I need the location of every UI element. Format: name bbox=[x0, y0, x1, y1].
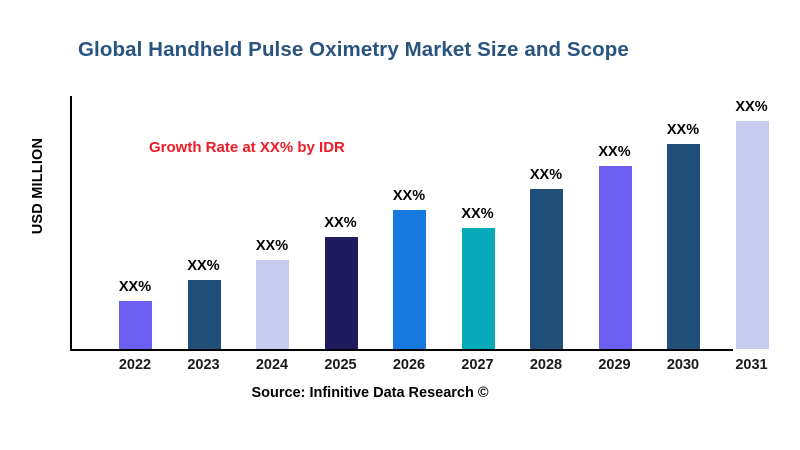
x-axis-tick-label: 2025 bbox=[308, 357, 374, 373]
bar-value-label: XX% bbox=[650, 122, 716, 138]
bar-value-label: XX% bbox=[376, 188, 442, 204]
x-axis-tick-label: 2028 bbox=[513, 357, 579, 373]
source-note: Source: Infinitive Data Research © bbox=[0, 385, 740, 401]
y-axis-label: USD MILLION bbox=[30, 116, 46, 256]
bar-group: XX%2024 bbox=[239, 95, 305, 349]
x-axis-tick-label: 2029 bbox=[582, 357, 648, 373]
bar[interactable] bbox=[736, 121, 769, 349]
bar-group: XX%2029 bbox=[582, 95, 648, 349]
y-axis-line bbox=[70, 96, 72, 350]
bar-group: XX%2031 bbox=[719, 95, 785, 349]
x-axis-tick-label: 2027 bbox=[445, 357, 511, 373]
chart-container: Global Handheld Pulse Oximetry Market Si… bbox=[0, 0, 800, 450]
bar[interactable] bbox=[667, 144, 700, 349]
bar-value-label: XX% bbox=[239, 238, 305, 254]
bar-value-label: XX% bbox=[102, 279, 168, 295]
x-axis-tick-label: 2030 bbox=[650, 357, 716, 373]
bar-group: XX%2026 bbox=[376, 95, 442, 349]
bar-group: XX%2025 bbox=[308, 95, 374, 349]
x-axis-tick-label: 2023 bbox=[171, 357, 237, 373]
x-axis-tick-label: 2022 bbox=[102, 357, 168, 373]
bar[interactable] bbox=[393, 210, 426, 349]
x-axis-line bbox=[70, 349, 733, 351]
bar-group: XX%2022 bbox=[102, 95, 168, 349]
chart-title: Global Handheld Pulse Oximetry Market Si… bbox=[78, 38, 629, 62]
bar[interactable] bbox=[188, 280, 221, 349]
x-axis-tick-label: 2031 bbox=[719, 357, 785, 373]
x-axis-tick-label: 2026 bbox=[376, 357, 442, 373]
x-axis-tick-label: 2024 bbox=[239, 357, 305, 373]
bar-group: XX%2023 bbox=[171, 95, 237, 349]
bar-group: XX%2030 bbox=[650, 95, 716, 349]
bar[interactable] bbox=[530, 189, 563, 349]
bar[interactable] bbox=[325, 237, 358, 349]
bar[interactable] bbox=[599, 166, 632, 349]
bar-value-label: XX% bbox=[513, 167, 579, 183]
bar-value-label: XX% bbox=[308, 215, 374, 231]
bar[interactable] bbox=[256, 260, 289, 349]
bar-group: XX%2028 bbox=[513, 95, 579, 349]
bar[interactable] bbox=[119, 301, 152, 349]
plot-area: Growth Rate at XX% by IDR XX%2022XX%2023… bbox=[70, 96, 780, 350]
bar-value-label: XX% bbox=[719, 99, 785, 115]
bar-value-label: XX% bbox=[582, 144, 648, 160]
bar-value-label: XX% bbox=[171, 258, 237, 274]
bar-value-label: XX% bbox=[445, 206, 511, 222]
bar[interactable] bbox=[462, 228, 495, 349]
bar-group: XX%2027 bbox=[445, 95, 511, 349]
